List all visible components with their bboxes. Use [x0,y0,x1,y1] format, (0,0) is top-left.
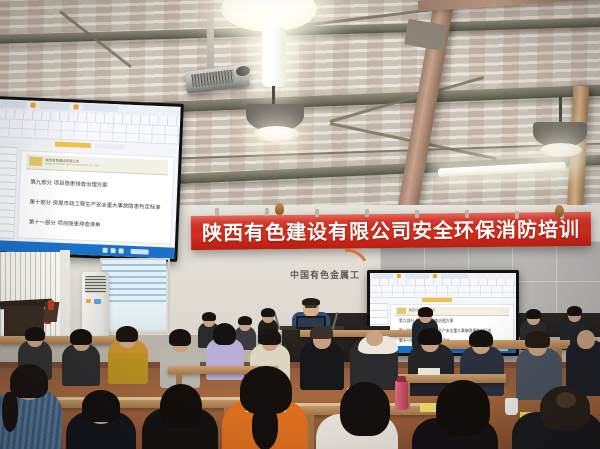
tv-app-tab[interactable] [373,274,393,279]
ac-vent [85,276,106,293]
attendee-far-1-hair [261,308,275,317]
attendee-r2-black-body [300,342,344,390]
attendee-far-3-hair [238,316,252,325]
attendee-r2-mustard-hair [116,326,138,342]
slide-line-1: 第九部分 项目隐患排查治理方案 [30,178,107,189]
tv-app-tab[interactable] [441,274,469,279]
ac-display [94,299,101,304]
attendee-front-white-hair [340,382,390,436]
attendee-r2-black-hair [310,326,333,339]
attendee-front-black2-hair [436,380,490,436]
bottle-cap [397,376,406,382]
ribbon-chip [95,143,125,149]
attendee-r2-dark-hair [418,328,442,345]
banner-clip [515,211,519,219]
banner-clip [365,209,369,217]
clock[interactable] [131,249,149,255]
banner-clip [415,210,419,218]
ceiling-lamp-2-bulb [253,126,299,142]
main-projection-screen[interactable]: 陕西有色建设有限公司 Shaanxi Nonferrous Constructi… [0,96,184,262]
banner-clip [265,208,269,216]
slide-outline-pane[interactable] [0,146,18,239]
attendee-r2-2-hair [70,329,92,345]
attendee-front-black-hair [82,390,120,422]
attendee-far-4-hair [418,307,433,317]
paper-cup [505,398,518,415]
banner-clip [315,209,319,217]
tray-icon[interactable] [111,248,116,253]
attendee-front-orange-ponytail [252,406,278,449]
projector-mount [207,16,214,74]
banner-tie [555,205,564,217]
ac-indicator [86,299,91,303]
banner-clip [215,208,219,216]
banner-title-text: 陕西有色建设有限公司安全环保消防培训 [202,219,580,243]
app-tab-1[interactable] [1,100,27,108]
red-event-banner: 陕西有色建设有限公司安全环保消防培训 [191,212,591,250]
app-icon [74,104,79,109]
wall-company-name: 中国有色金属工 [290,268,360,281]
tray-icon[interactable] [119,248,124,253]
slide-line-2: 第十部分 房屋市政工程生产安全重大事故隐患判定标准 [29,198,160,211]
attendee-front-stripe-ponytail [2,392,18,432]
desk-row-3-left [0,336,130,344]
attendee-front-dark-hair [160,384,202,428]
attendee-r2-slate-hair [525,331,550,348]
banner-tie [275,203,284,215]
tv-app-icon [397,274,401,278]
wall-pillar [60,250,70,342]
attendee-r2-whitehood-head [366,330,383,346]
training-room-photo: 陕西有色建设有限公司安全环保消防培训 中国有色金属工 [0,0,600,449]
attendee-r2-edge-head [577,330,595,349]
slide-line-3: 第十一部分 项目隐患排查清单 [29,218,101,229]
tv-slide-logo [397,308,406,314]
presenter-glasses-icon [305,305,317,308]
window-frame [100,258,170,334]
attendee-r2-1-hair [25,327,45,341]
tv-ribbon-highlight [422,298,452,302]
slide-canvas: 陕西有色建设有限公司 Shaanxi Nonferrous Constructi… [17,150,175,244]
fluorescent-tube-vertical [262,27,286,87]
banner-clip [465,210,469,218]
tray-icon[interactable] [103,248,108,253]
attendee-r2-navy-hair [469,330,493,347]
attendee-r2-cream-hair [259,329,281,345]
attendee-r2-lavender-hair [213,323,236,345]
attendee-front-stripe-hair [10,364,48,398]
slide-logo [29,157,42,167]
attendee-far-5-hair [526,309,541,319]
thermos-bottle [395,380,408,410]
attendee-r2-gray-hair [169,329,191,346]
desk-edge [40,397,240,400]
attendee-far-2-hair [202,312,216,321]
white-paper [418,368,440,375]
app-tab-3[interactable] [82,104,118,113]
app-tab-2[interactable] [39,102,69,110]
attendee-far-6-hair [567,306,582,316]
app-icon [31,103,36,108]
tv-app-icon [433,274,437,278]
tv-app-tab[interactable] [405,274,429,279]
ribbon-highlight [55,142,91,149]
attendee-front-right-bun [556,392,576,408]
red-object [48,300,54,310]
ceiling-lamp-3-bulb [540,143,582,157]
